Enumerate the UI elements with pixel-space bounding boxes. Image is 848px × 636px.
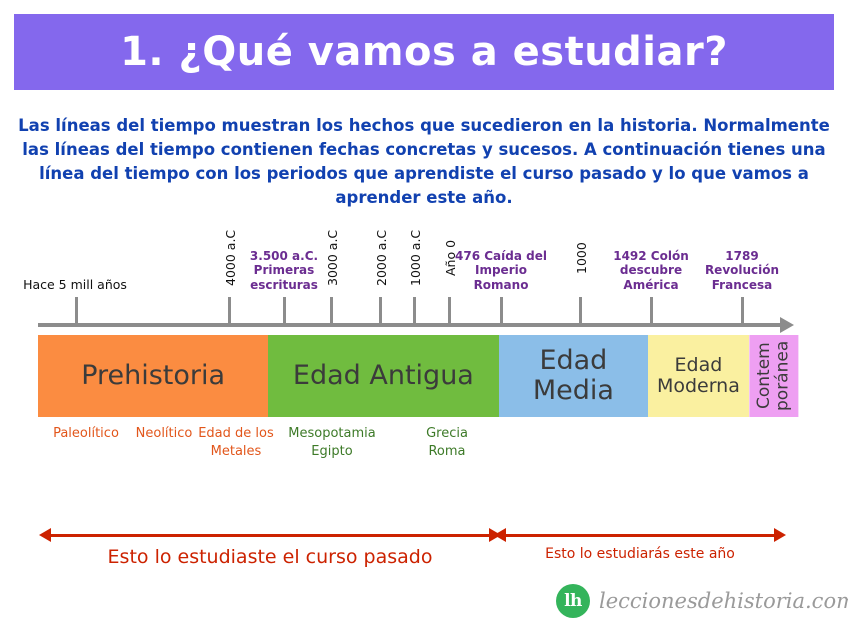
period-segment: Edad Antigua (268, 335, 498, 417)
timeline-tick (741, 297, 744, 325)
timeline-tick (448, 297, 451, 325)
timeline-tick (500, 297, 503, 325)
timeline-tick (579, 297, 582, 325)
span-caption: Esto lo estudiarás este año (505, 546, 775, 562)
timeline-tick (283, 297, 286, 325)
period-segment: Prehistoria (38, 335, 268, 417)
period-sublabel: Mesopotamia Egipto (277, 425, 387, 460)
timeline-date-label: Hace 5 mill años (20, 222, 130, 292)
span-arrow-icon (50, 534, 490, 537)
span-caption: Esto lo estudiaste el curso pasado (50, 546, 490, 568)
timeline-tick (413, 297, 416, 325)
site-logo: lh leccionesdehistoria.com (556, 584, 848, 618)
timeline-tick (228, 297, 231, 325)
period-bar: PrehistoriaEdad AntiguaEdad MediaEdad Mo… (38, 335, 798, 417)
timeline-date-label: 1789 Revolución Francesa (696, 222, 788, 292)
timeline-date-label: 4000 a.C (222, 222, 238, 294)
timeline-tick (379, 297, 382, 325)
timeline-axis-arrow-icon (780, 317, 794, 333)
timeline-tick (650, 297, 653, 325)
period-sublabel: Grecia Roma (408, 425, 486, 460)
period-segment: Edad Moderna (648, 335, 748, 417)
timeline-date-label: 3.500 a.C. Primeras escrituras (238, 222, 330, 292)
timeline-date-label: 1000 a.C (407, 222, 423, 294)
timeline-date-label: 2000 a.C (373, 222, 389, 294)
logo-wordmark: leccionesdehistoria.com (599, 589, 848, 613)
period-sublabel: Edad de los Metales (197, 425, 275, 460)
intro-paragraph: Las líneas del tiempo muestran los hecho… (14, 114, 834, 210)
timeline-date-label: 3000 a.C (324, 222, 340, 294)
period-segment: Edad Media (499, 335, 649, 417)
timeline-figure: Hace 5 mill años4000 a.C3.500 a.C. Prime… (0, 222, 848, 512)
period-sublabel: Paleolítico (46, 425, 126, 443)
timeline-date-label: 476 Caída del Imperio Romano (455, 222, 547, 292)
timeline-axis (38, 323, 783, 327)
page-title: 1. ¿Qué vamos a estudiar? (120, 29, 728, 75)
span-arrow-icon (505, 534, 775, 537)
timeline-tick (330, 297, 333, 325)
logo-monogram-icon: lh (556, 584, 590, 618)
header-banner: 1. ¿Qué vamos a estudiar? (14, 14, 834, 90)
timeline-date-label: 1000 (573, 222, 589, 294)
period-segment: Contem poránea (749, 335, 798, 417)
study-span-annotations: Esto lo estudiaste el curso pasadoEsto l… (0, 512, 848, 582)
period-sublabel: Neolítico (127, 425, 201, 443)
timeline-date-label: 1492 Colón descubre América (605, 222, 697, 292)
timeline-tick (75, 297, 78, 325)
